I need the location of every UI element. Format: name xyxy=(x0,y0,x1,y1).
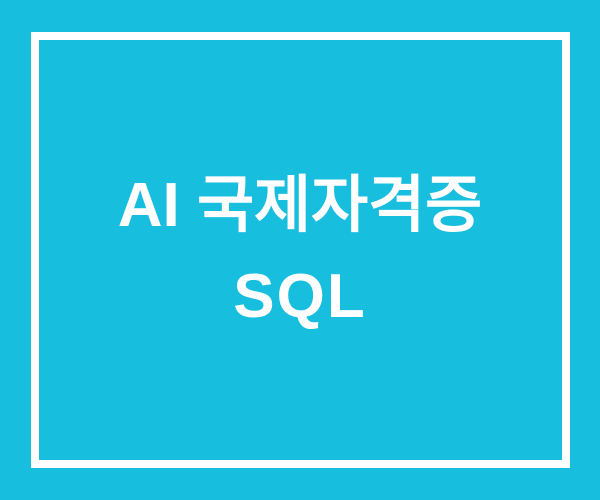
headline-block: AI 국제자격증 SQL xyxy=(0,1,600,500)
poster-canvas: AI 국제자격증 SQL xyxy=(0,0,600,500)
headline-line-1: AI 국제자격증 xyxy=(118,160,482,251)
headline-line-2: SQL xyxy=(233,251,366,342)
decorative-border-frame xyxy=(31,32,570,468)
